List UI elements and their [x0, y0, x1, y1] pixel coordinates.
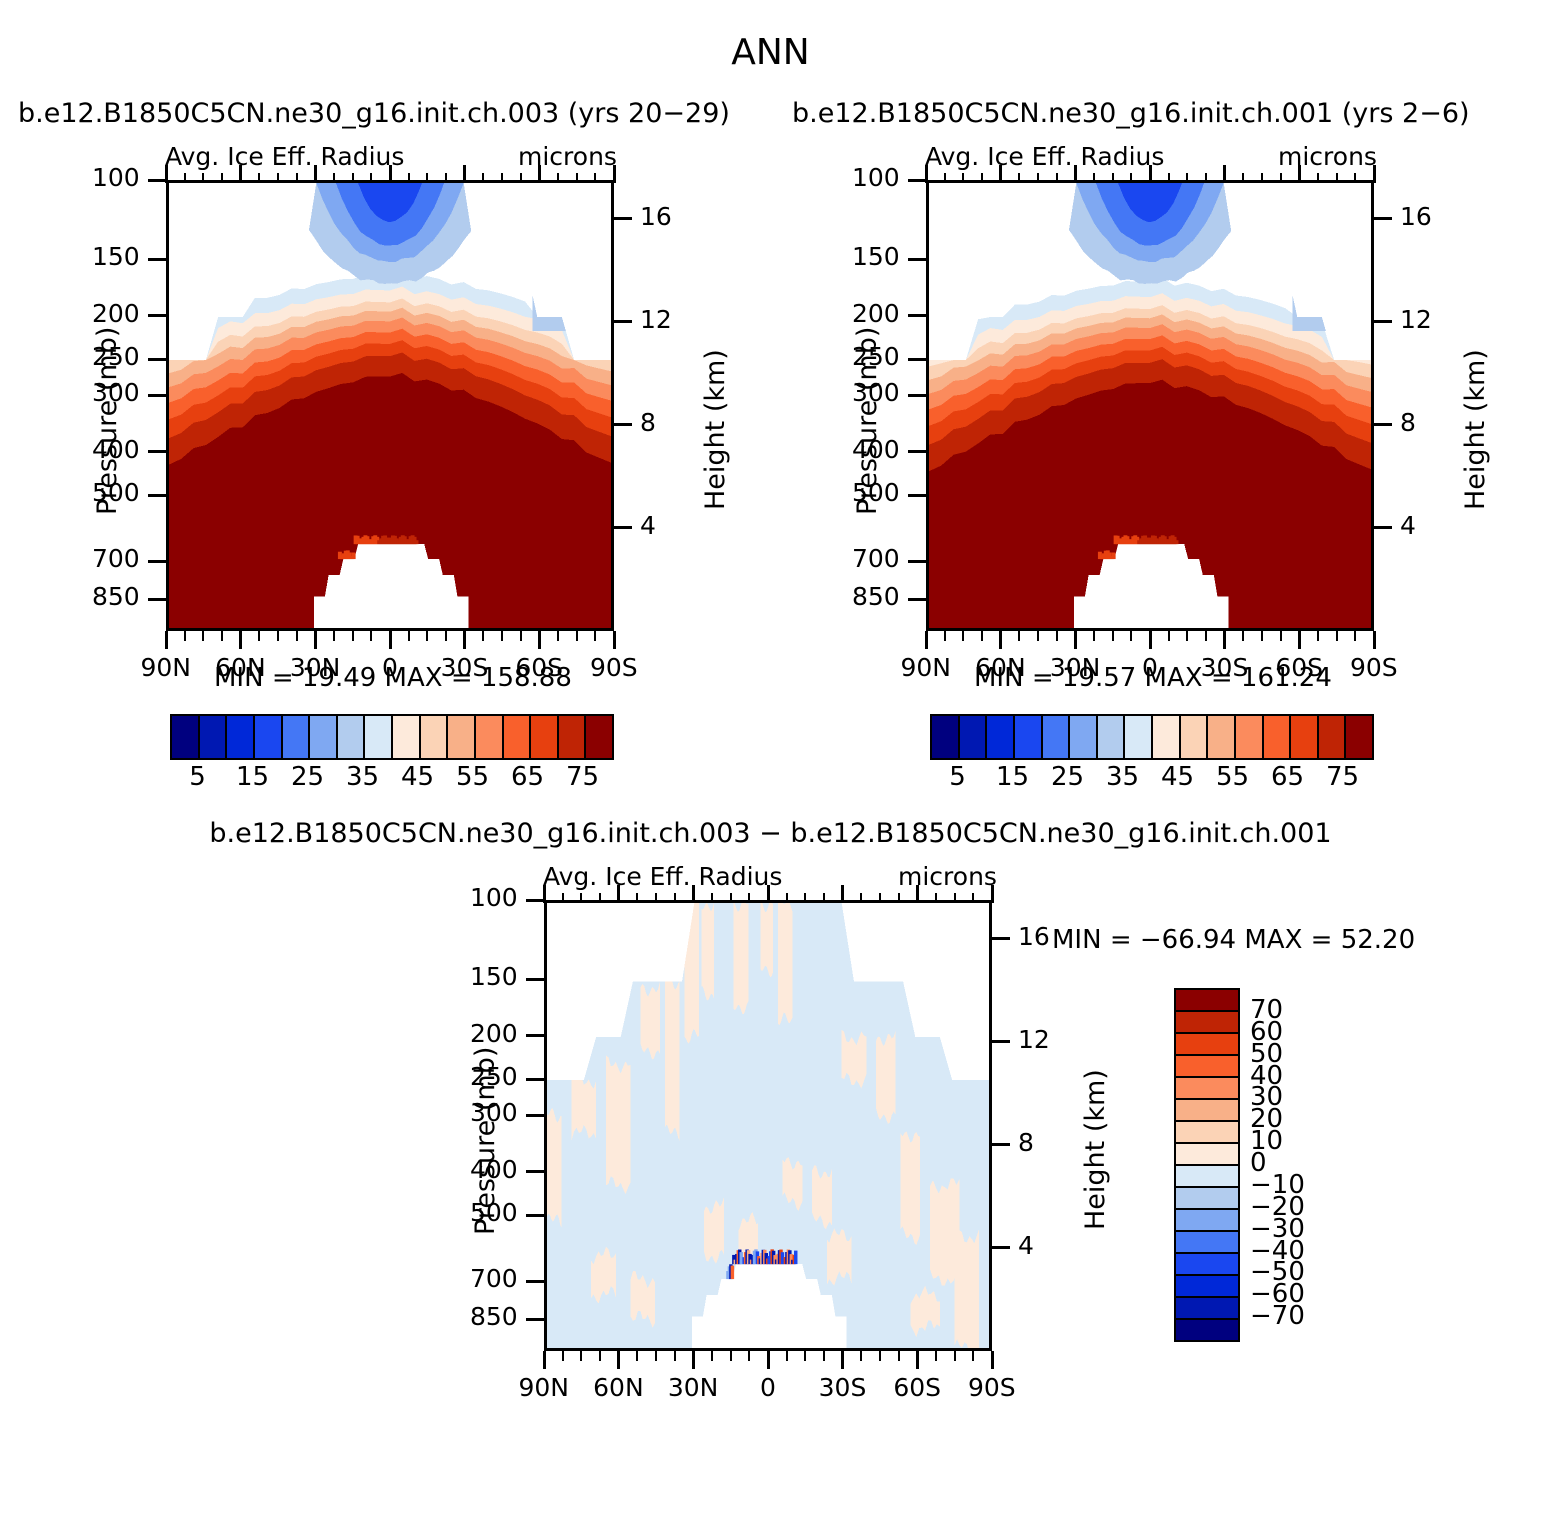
x-tick-label: 60N [593, 1373, 644, 1402]
x-major-tick-top [767, 885, 770, 903]
diff-patch [606, 1055, 631, 1194]
y-major-tick [526, 1034, 544, 1037]
x-minor-tick-top [1112, 173, 1114, 183]
x-minor-tick [352, 631, 354, 641]
y-major-tick [908, 598, 926, 601]
y-right-major-tick [992, 1040, 1010, 1043]
colorbar-cell [1176, 1078, 1238, 1100]
x-minor-tick [520, 631, 522, 641]
x-minor-tick [1354, 631, 1356, 641]
y-tick-label: 150 [852, 242, 900, 271]
y-tick-label: 100 [470, 883, 518, 912]
x-major-tick-top [841, 885, 844, 903]
x-minor-tick-top [576, 173, 578, 183]
x-major-tick [1373, 631, 1376, 649]
x-minor-tick-top [674, 893, 676, 903]
x-minor-tick [576, 631, 578, 641]
colorbar-cell [531, 716, 559, 758]
diff-patch [702, 903, 714, 1000]
x-minor-tick-top [482, 173, 484, 183]
x-minor-tick-top [580, 893, 582, 903]
y-right-tick-label: 8 [640, 408, 656, 437]
diff-patch [901, 1131, 921, 1245]
diff-patch [547, 1108, 562, 1228]
x-minor-tick-top [202, 173, 204, 183]
x-minor-tick [580, 1351, 582, 1361]
x-tick-label: 60N [215, 653, 266, 682]
x-minor-tick-top [277, 173, 279, 183]
colorbar-cell [559, 716, 587, 758]
y-major-tick [526, 978, 544, 981]
colorbar-cell [1176, 1188, 1238, 1210]
y-right-major-tick [992, 937, 1010, 940]
x-minor-tick-top [935, 893, 937, 903]
x-major-tick [463, 631, 466, 649]
x-minor-tick [786, 1351, 788, 1361]
x-minor-tick [1205, 631, 1207, 641]
y-major-tick [148, 258, 166, 261]
x-minor-tick-top [1093, 173, 1095, 183]
x-minor-tick [594, 631, 596, 641]
x-minor-tick [445, 631, 447, 641]
x-major-tick [538, 631, 541, 649]
y-axis-label-right-diff: Height (km) [1080, 1069, 1111, 1230]
y-right-tick-label: 12 [1400, 305, 1432, 334]
y-major-tick [526, 899, 544, 902]
colorbar-cell [1043, 716, 1071, 758]
x-minor-tick [944, 631, 946, 641]
x-minor-tick-top [1280, 173, 1282, 183]
colorbar-cell [1176, 1056, 1238, 1078]
y-right-tick-label: 4 [1018, 1231, 1034, 1260]
colorbar-tick-label: 45 [1161, 762, 1194, 792]
x-minor-tick-top [1186, 173, 1188, 183]
x-major-tick-top [389, 165, 392, 183]
x-minor-tick-top [954, 893, 956, 903]
y-right-major-tick [1374, 217, 1392, 220]
y-major-tick [908, 358, 926, 361]
x-tick-label: 90N [519, 1373, 570, 1402]
x-minor-tick-top [823, 893, 825, 903]
x-minor-tick [898, 1351, 900, 1361]
colorbar-tick-label: 5 [189, 762, 206, 792]
colorbar-cell [1208, 716, 1236, 758]
colorbar-tick-label: 35 [346, 762, 379, 792]
y-major-tick [908, 314, 926, 317]
contour-fringe [352, 552, 356, 559]
x-major-tick-top [1074, 165, 1077, 183]
y-major-tick [908, 560, 926, 563]
x-minor-tick [408, 631, 410, 641]
colorbar-cell [1015, 716, 1043, 758]
x-minor-tick-top [898, 893, 900, 903]
colorbar-cell [172, 716, 200, 758]
x-minor-tick [1280, 631, 1282, 641]
x-minor-tick [655, 1351, 657, 1361]
colorbar-cell [227, 716, 255, 758]
colorbar-vertical-diff [1174, 988, 1240, 1342]
colorbar-tick-label: 35 [1106, 762, 1139, 792]
x-minor-tick-top [730, 893, 732, 903]
x-minor-tick [1261, 631, 1263, 641]
x-minor-tick-top [944, 173, 946, 183]
x-minor-tick [1168, 631, 1170, 641]
colorbar-cell [365, 716, 393, 758]
x-major-tick [617, 1351, 620, 1369]
x-minor-tick [935, 1351, 937, 1361]
x-minor-tick-top [562, 893, 564, 903]
x-minor-tick-top [599, 893, 601, 903]
y-tick-label: 100 [852, 163, 900, 192]
colorbar-cell [1176, 1166, 1238, 1188]
x-minor-tick-top [1018, 173, 1020, 183]
x-minor-tick-top [408, 173, 410, 183]
x-major-tick [314, 631, 317, 649]
x-tick-label: 0 [1142, 653, 1158, 682]
y-major-tick [148, 598, 166, 601]
x-minor-tick [557, 631, 559, 641]
diff-patch [665, 976, 680, 1142]
x-minor-tick [333, 631, 335, 641]
x-minor-tick [1317, 631, 1319, 641]
x-minor-tick [221, 631, 223, 641]
plot-area-left [166, 180, 614, 631]
page-title: ANN [0, 32, 1541, 73]
x-minor-tick [636, 1351, 638, 1361]
variable-label-right: Avg. Ice Eff. Radius [925, 142, 1164, 171]
contour-field-right [929, 183, 1371, 628]
x-major-tick [841, 1351, 844, 1369]
panel-title-right: b.e12.B1850C5CN.ne30_g16.init.ch.001 (yr… [792, 98, 1470, 129]
y-major-tick [908, 258, 926, 261]
y-right-tick-label: 8 [1400, 408, 1416, 437]
x-minor-tick [954, 1351, 956, 1361]
contour-field-diff [547, 903, 989, 1348]
colorbar-tick-label: −70 [1250, 1301, 1305, 1331]
contour-fringe [1112, 552, 1116, 559]
x-minor-tick-top [1317, 173, 1319, 183]
y-tick-label: 850 [852, 582, 900, 611]
colorbar-cell [283, 716, 311, 758]
y-tick-label: 500 [852, 478, 900, 507]
x-minor-tick [1112, 631, 1114, 641]
x-minor-tick-top [520, 173, 522, 183]
x-minor-tick-top [1205, 173, 1207, 183]
x-minor-tick-top [972, 893, 974, 903]
minmax-diff: MIN = −66.94 MAX = 52.20 [1052, 925, 1415, 955]
colorbar-tick-label: 75 [1326, 762, 1359, 792]
x-minor-tick [879, 1351, 881, 1361]
colorbar-cell [1176, 1034, 1238, 1056]
x-minor-tick-top [296, 173, 298, 183]
x-minor-tick-top [426, 173, 428, 183]
colorbar-tick-label: 25 [1051, 762, 1084, 792]
colorbar-cell [1070, 716, 1098, 758]
x-minor-tick-top [711, 893, 713, 903]
x-major-tick-top [916, 885, 919, 903]
x-minor-tick [860, 1351, 862, 1361]
y-right-tick-label: 12 [1018, 1025, 1050, 1054]
x-minor-tick-top [786, 893, 788, 903]
y-right-major-tick [614, 526, 632, 529]
diff-patch [761, 903, 773, 977]
x-major-tick-top [1298, 165, 1301, 183]
x-tick-label: 30N [668, 1373, 719, 1402]
colorbar-tick-label: 75 [566, 762, 599, 792]
y-tick-label: 400 [470, 1155, 518, 1184]
y-major-tick [526, 1280, 544, 1283]
y-tick-label: 250 [852, 342, 900, 371]
x-minor-tick [562, 1351, 564, 1361]
colorbar-cell [1125, 716, 1153, 758]
colorbar-cell [1291, 716, 1319, 758]
x-major-tick [767, 1351, 770, 1369]
colorbar-cell [987, 716, 1015, 758]
y-right-tick-label: 12 [640, 305, 672, 334]
y-tick-label: 850 [92, 582, 140, 611]
colorbar-cell [200, 716, 228, 758]
panel-title-diff: b.e12.B1850C5CN.ne30_g16.init.ch.003 − b… [0, 818, 1541, 849]
y-right-tick-label: 16 [1018, 922, 1050, 951]
x-minor-tick-top [370, 173, 372, 183]
y-major-tick [148, 358, 166, 361]
y-major-tick [908, 450, 926, 453]
colorbar-cell [1236, 716, 1264, 758]
x-minor-tick-top [636, 893, 638, 903]
x-tick-label: 30N [290, 653, 341, 682]
colorbar-cell [1176, 1100, 1238, 1122]
x-major-tick [165, 631, 168, 649]
y-tick-label: 300 [470, 1098, 518, 1127]
colorbar-tick-label: 65 [1271, 762, 1304, 792]
x-major-tick [1223, 631, 1226, 649]
x-major-tick [239, 631, 242, 649]
x-minor-tick [748, 1351, 750, 1361]
x-minor-tick [674, 1351, 676, 1361]
x-minor-tick-top [221, 173, 223, 183]
x-major-tick-top [991, 885, 994, 903]
x-tick-label: 30S [441, 653, 489, 682]
colorbar-cell [1181, 716, 1209, 758]
x-minor-tick-top [1242, 173, 1244, 183]
x-minor-tick-top [804, 893, 806, 903]
diff-spike [731, 1266, 734, 1279]
x-minor-tick [501, 631, 503, 641]
y-major-tick [148, 179, 166, 182]
y-tick-label: 400 [92, 435, 140, 464]
colorbar-tick-label: 15 [996, 762, 1029, 792]
diff-patch [640, 982, 660, 1060]
colorbar-cell [932, 716, 960, 758]
x-major-tick-top [1223, 165, 1226, 183]
x-major-tick [916, 1351, 919, 1369]
x-major-tick [543, 1351, 546, 1369]
x-major-tick [692, 1351, 695, 1369]
colorbar-cell [255, 716, 283, 758]
x-minor-tick [370, 631, 372, 641]
colorbar-tick-label: 25 [291, 762, 324, 792]
x-minor-tick-top [981, 173, 983, 183]
contour-field-left [169, 183, 611, 628]
y-tick-label: 500 [470, 1198, 518, 1227]
y-tick-label: 200 [852, 299, 900, 328]
x-minor-tick-top [748, 893, 750, 903]
colorbar-tick-label: 65 [511, 762, 544, 792]
colorbar-tick-label: 15 [236, 762, 269, 792]
diff-patch [778, 903, 793, 1025]
y-tick-label: 300 [852, 378, 900, 407]
x-tick-label: 30S [819, 1373, 867, 1402]
y-right-major-tick [614, 217, 632, 220]
x-minor-tick [804, 1351, 806, 1361]
x-minor-tick [599, 1351, 601, 1361]
y-major-tick [526, 1214, 544, 1217]
x-major-tick-top [999, 165, 1002, 183]
colorbar-tick-label: 45 [401, 762, 434, 792]
y-tick-label: 250 [92, 342, 140, 371]
x-minor-tick-top [258, 173, 260, 183]
x-minor-tick [1037, 631, 1039, 641]
colorbar-tick-label: 55 [456, 762, 489, 792]
x-minor-tick-top [1261, 173, 1263, 183]
colorbar-cell [1176, 1232, 1238, 1254]
y-right-major-tick [614, 320, 632, 323]
y-axis-label-right-left-panel: Height (km) [700, 349, 731, 510]
x-major-tick [999, 631, 1002, 649]
colorbar-cell [1176, 1254, 1238, 1276]
x-minor-tick [1186, 631, 1188, 641]
x-minor-tick-top [1336, 173, 1338, 183]
x-major-tick-top [613, 165, 616, 183]
y-major-tick [148, 450, 166, 453]
y-right-major-tick [1374, 526, 1392, 529]
y-tick-label: 100 [92, 163, 140, 192]
colorbar-cell [310, 716, 338, 758]
contour-fringe [415, 540, 419, 544]
x-minor-tick [730, 1351, 732, 1361]
x-minor-tick-top [1130, 173, 1132, 183]
x-major-tick-top [314, 165, 317, 183]
x-tick-label: 0 [760, 1373, 776, 1402]
y-tick-label: 250 [470, 1062, 518, 1091]
colorbar-cell [1176, 1122, 1238, 1144]
y-major-tick [908, 494, 926, 497]
x-minor-tick [962, 631, 964, 641]
x-tick-label: 0 [382, 653, 398, 682]
diff-patch [955, 1229, 979, 1348]
x-minor-tick [981, 631, 983, 641]
plot-area-right [926, 180, 1374, 631]
x-tick-label: 90S [968, 1373, 1016, 1402]
x-tick-label: 90S [590, 653, 638, 682]
y-major-tick [148, 560, 166, 563]
x-minor-tick-top [860, 893, 862, 903]
x-tick-label: 60S [893, 1373, 941, 1402]
y-tick-label: 500 [92, 478, 140, 507]
y-right-tick-label: 16 [1400, 202, 1432, 231]
y-tick-label: 200 [470, 1019, 518, 1048]
diff-patch [876, 1030, 896, 1124]
colorbar-cell [1176, 1144, 1238, 1166]
x-tick-label: 60S [515, 653, 563, 682]
y-major-tick [526, 1170, 544, 1173]
colorbar-horizontal-right [930, 714, 1374, 760]
x-minor-tick [1093, 631, 1095, 641]
x-tick-label: 60S [1275, 653, 1323, 682]
colorbar-cell [1176, 990, 1238, 1012]
y-tick-label: 300 [92, 378, 140, 407]
diff-spike [794, 1251, 797, 1265]
colorbar-tick-label: 55 [1216, 762, 1249, 792]
x-major-tick [389, 631, 392, 649]
y-right-major-tick [614, 423, 632, 426]
x-minor-tick-top [1056, 173, 1058, 183]
y-tick-label: 400 [852, 435, 900, 464]
x-minor-tick [1018, 631, 1020, 641]
colorbar-cell [1176, 1276, 1238, 1298]
x-tick-label: 30S [1201, 653, 1249, 682]
plot-area-diff [544, 900, 992, 1351]
x-minor-tick-top [445, 173, 447, 183]
x-minor-tick-top [594, 173, 596, 183]
x-major-tick-top [617, 885, 620, 903]
unit-label-right: microns [1278, 142, 1377, 171]
x-minor-tick-top [1037, 173, 1039, 183]
y-right-major-tick [992, 1143, 1010, 1146]
colorbar-cell [1176, 1012, 1238, 1034]
y-right-tick-label: 8 [1018, 1128, 1034, 1157]
x-minor-tick-top [184, 173, 186, 183]
colorbar-cell [1153, 716, 1181, 758]
y-axis-label-right-right-panel: Height (km) [1460, 349, 1491, 510]
colorbar-cell [504, 716, 532, 758]
unit-label-left: microns [518, 142, 617, 171]
y-tick-label: 700 [92, 544, 140, 573]
y-tick-label: 850 [470, 1302, 518, 1331]
colorbar-tick-label: 5 [949, 762, 966, 792]
y-major-tick [908, 179, 926, 182]
colorbar-cell [1176, 1320, 1238, 1340]
x-minor-tick [202, 631, 204, 641]
y-tick-label: 200 [92, 299, 140, 328]
x-minor-tick-top [962, 173, 964, 183]
x-minor-tick [711, 1351, 713, 1361]
variable-label-diff: Avg. Ice Eff. Radius [543, 862, 782, 891]
panel-title-left: b.e12.B1850C5CN.ne30_g16.init.ch.003 (yr… [18, 98, 730, 129]
colorbar-cell [1346, 716, 1372, 758]
y-right-tick-label: 4 [640, 511, 656, 540]
x-major-tick-top [1149, 165, 1152, 183]
diff-patch [734, 903, 749, 1014]
x-minor-tick [482, 631, 484, 641]
y-major-tick [148, 394, 166, 397]
x-minor-tick [184, 631, 186, 641]
x-minor-tick [426, 631, 428, 641]
y-major-tick [526, 1114, 544, 1117]
x-major-tick-top [1373, 165, 1376, 183]
x-tick-label: 60N [975, 653, 1026, 682]
y-right-tick-label: 16 [640, 202, 672, 231]
x-minor-tick-top [879, 893, 881, 903]
x-minor-tick [258, 631, 260, 641]
y-major-tick [148, 494, 166, 497]
x-major-tick [1298, 631, 1301, 649]
x-major-tick-top [538, 165, 541, 183]
colorbar-cell [1176, 1298, 1238, 1320]
x-minor-tick-top [333, 173, 335, 183]
x-minor-tick-top [655, 893, 657, 903]
x-minor-tick [972, 1351, 974, 1361]
